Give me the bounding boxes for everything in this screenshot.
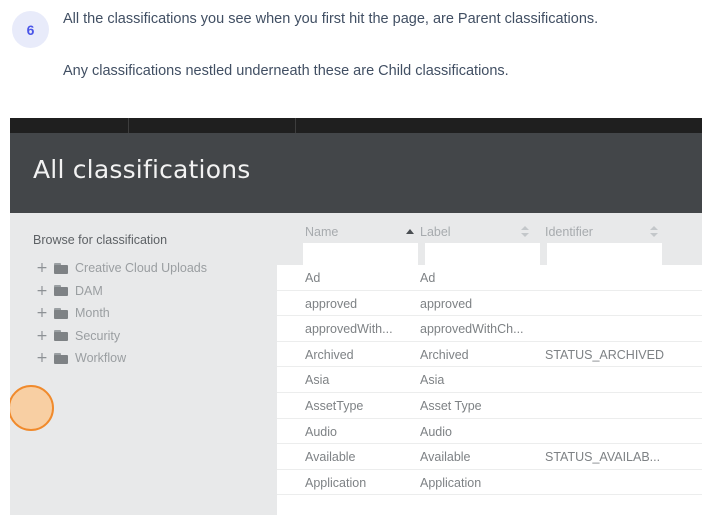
cell-name: Archived xyxy=(305,348,354,362)
cell-label: Available xyxy=(420,450,471,464)
navbar-divider-1 xyxy=(128,118,129,133)
tree-item-label: Creative Cloud Uploads xyxy=(75,261,207,275)
instruction-text: All the classifications you see when you… xyxy=(63,8,623,82)
table-header-row: Name Label Identifier xyxy=(277,213,702,265)
cell-name: approved xyxy=(305,297,357,311)
table-row[interactable]: Application Application xyxy=(277,470,702,496)
tree-item-month[interactable]: + Month xyxy=(10,302,277,325)
table-row[interactable]: Available Available STATUS_AVAILAB... xyxy=(277,444,702,470)
expand-plus-icon[interactable]: + xyxy=(36,307,48,319)
filter-input-label[interactable] xyxy=(425,243,540,265)
sidebar-title: Browse for classification xyxy=(33,233,167,247)
folder-icon xyxy=(54,308,68,319)
cell-label: Asia xyxy=(420,373,444,387)
cell-name: Available xyxy=(305,450,356,464)
sort-ascending-icon[interactable] xyxy=(404,225,416,239)
folder-icon xyxy=(54,263,68,274)
cell-label: Application xyxy=(420,476,481,490)
app-body: Browse for classification + Creative Clo… xyxy=(10,213,702,515)
filter-input-identifier[interactable] xyxy=(547,243,662,265)
tree-item-dam[interactable]: + DAM xyxy=(10,280,277,303)
app-top-navbar[interactable] xyxy=(10,118,702,133)
tree-item-label: Workflow xyxy=(75,351,126,365)
table-row[interactable]: AssetType Asset Type xyxy=(277,393,702,419)
app-screenshot-panel: All classifications Browse for classific… xyxy=(10,118,702,515)
table-row[interactable]: approved approved xyxy=(277,291,702,317)
filter-input-name[interactable] xyxy=(303,243,418,265)
sort-toggle-icon[interactable] xyxy=(519,225,531,239)
app-header-bar: All classifications xyxy=(10,133,702,213)
folder-icon xyxy=(54,353,68,364)
cell-label: Ad xyxy=(420,271,435,285)
column-header-identifier[interactable]: Identifier xyxy=(545,225,649,241)
table-row[interactable]: Ad Ad xyxy=(277,265,702,291)
column-header-label: Name xyxy=(305,225,338,239)
instruction-paragraph-1: All the classifications you see when you… xyxy=(63,8,623,30)
tree-item-security[interactable]: + Security xyxy=(10,325,277,348)
step-number-badge: 6 xyxy=(12,11,49,48)
classifications-table: Name Label Identifier xyxy=(277,213,702,515)
table-row[interactable]: approvedWith... approvedWithCh... xyxy=(277,316,702,342)
cell-label: Audio xyxy=(420,425,452,439)
tree-item-workflow[interactable]: + Workflow xyxy=(10,347,277,370)
table-body[interactable]: Ad Ad approved approved approvedWith... … xyxy=(277,265,702,515)
column-header-name[interactable]: Name xyxy=(305,225,405,241)
cell-name: Application xyxy=(305,476,366,490)
tree-item-label: Security xyxy=(75,329,120,343)
cell-identifier: STATUS_ARCHIVED xyxy=(545,348,664,362)
instruction-paragraph-2: Any classifications nestled underneath t… xyxy=(63,60,623,82)
classification-tree: + Creative Cloud Uploads + DAM + xyxy=(10,257,277,370)
table-row[interactable]: Archived Archived STATUS_ARCHIVED xyxy=(277,342,702,368)
cell-name: Ad xyxy=(305,271,320,285)
column-header-label: Label xyxy=(420,225,451,239)
cell-name: Audio xyxy=(305,425,337,439)
cell-label: Asset Type xyxy=(420,399,482,413)
classification-sidebar: Browse for classification + Creative Clo… xyxy=(10,213,277,515)
page-title: All classifications xyxy=(33,155,250,184)
tree-item-creative-cloud-uploads[interactable]: + Creative Cloud Uploads xyxy=(10,257,277,280)
navbar-divider-2 xyxy=(295,118,296,133)
cell-name: AssetType xyxy=(305,399,363,413)
instruction-block: 6 All the classifications you see when y… xyxy=(0,0,702,118)
column-header-label[interactable]: Label xyxy=(420,225,520,241)
highlight-annotation-circle xyxy=(10,385,54,431)
tree-item-label: Month xyxy=(75,306,110,320)
cell-identifier: STATUS_AVAILAB... xyxy=(545,450,660,464)
column-header-label: Identifier xyxy=(545,225,593,239)
folder-icon xyxy=(54,330,68,341)
cell-label: approvedWithCh... xyxy=(420,322,524,336)
table-row[interactable]: Asia Asia xyxy=(277,367,702,393)
expand-plus-icon[interactable]: + xyxy=(36,285,48,297)
sort-toggle-icon[interactable] xyxy=(648,225,660,239)
cell-label: Archived xyxy=(420,348,469,362)
table-row[interactable]: Audio Audio xyxy=(277,419,702,445)
tree-item-label: DAM xyxy=(75,284,103,298)
cell-name: Asia xyxy=(305,373,329,387)
expand-plus-icon[interactable]: + xyxy=(36,262,48,274)
expand-plus-icon[interactable]: + xyxy=(36,330,48,342)
cell-name: approvedWith... xyxy=(305,322,393,336)
folder-icon xyxy=(54,285,68,296)
expand-plus-icon[interactable]: + xyxy=(36,352,48,364)
cell-label: approved xyxy=(420,297,472,311)
